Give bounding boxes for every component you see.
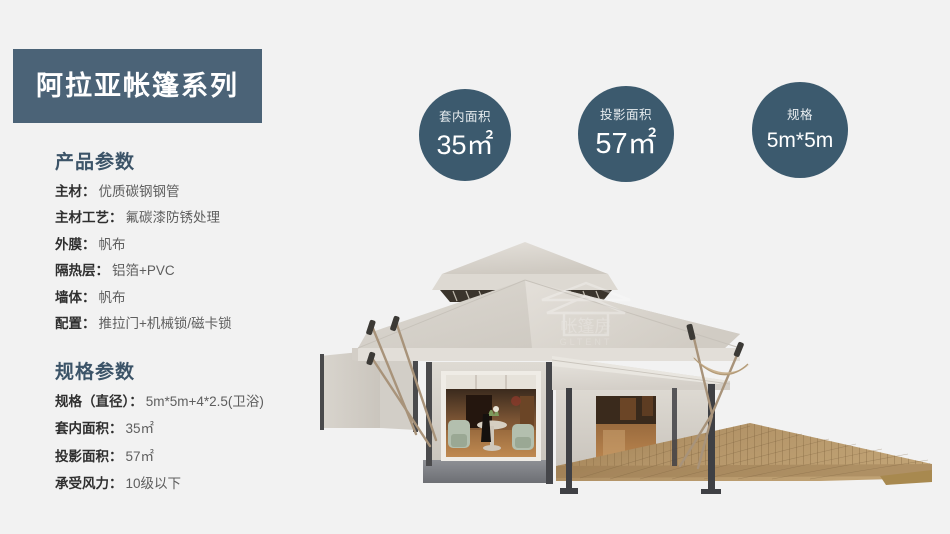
title-banner: 阿拉亚帐篷系列 [13, 49, 262, 123]
list-item: 隔热层：铝箔+PVC [55, 264, 355, 278]
product-parameters-panel: 产品参数 主材：优质碳钢钢管 主材工艺：氟碳漆防锈处理 外膜：帆布 隔热层：铝箔… [55, 152, 355, 344]
list-item: 外膜：帆布 [55, 238, 355, 252]
stat-badge-label: 规格 [787, 109, 813, 122]
main-roof [352, 280, 740, 361]
svg-text:GLTENT: GLTENT [560, 337, 613, 347]
param-value: 10级以下 [126, 476, 182, 491]
list-item: 配置：推拉门+机械锁/磁卡锁 [55, 317, 355, 331]
tent-illustration-svg: 帐篷房 GLTENT [320, 238, 950, 494]
watermark-text: 帐篷房 [561, 317, 612, 337]
list-item: 主材工艺：氟碳漆防锈处理 [55, 211, 355, 225]
param-key: 墙体： [55, 290, 96, 305]
param-key: 规格（直径）： [55, 394, 143, 409]
param-value: 35㎡ [126, 421, 155, 436]
param-key: 主材工艺： [55, 210, 123, 225]
param-key: 套内面积： [55, 421, 123, 436]
stat-badge-projected-area: 投影面积 57㎡ [578, 86, 674, 182]
param-key: 主材： [55, 184, 96, 199]
product-parameters-list: 主材：优质碳钢钢管 主材工艺：氟碳漆防锈处理 外膜：帆布 隔热层：铝箔+PVC … [55, 185, 355, 331]
page-title: 阿拉亚帐篷系列 [36, 73, 239, 100]
param-key: 承受风力： [55, 476, 123, 491]
param-value: 氟碳漆防锈处理 [126, 210, 221, 225]
list-item: 主材：优质碳钢钢管 [55, 185, 355, 199]
param-value: 铝箔+PVC [112, 263, 175, 278]
list-item: 墙体：帆布 [55, 291, 355, 305]
param-value: 推拉门+机械锁/磁卡锁 [99, 316, 232, 331]
stat-badge-label: 套内面积 [439, 111, 491, 124]
param-key: 配置： [55, 316, 96, 331]
stat-badge-size: 规格 5m*5m [752, 82, 848, 178]
front-room [423, 362, 553, 484]
stat-badge-label: 投影面积 [600, 109, 652, 122]
product-parameters-heading: 产品参数 [55, 152, 355, 175]
param-value: 5m*5m+4*2.5(卫浴) [146, 394, 264, 409]
stat-badge-value: 35㎡ [436, 132, 493, 159]
param-value: 帆布 [99, 290, 126, 305]
param-key: 外膜： [55, 237, 96, 252]
param-value: 优质碳钢钢管 [99, 184, 180, 199]
param-key: 投影面积： [55, 449, 123, 464]
stat-badge-value: 57㎡ [595, 130, 656, 159]
stat-badge-value: 5m*5m [767, 130, 834, 151]
param-value: 57㎡ [126, 449, 155, 464]
tent-illustration: 帐篷房 GLTENT [320, 238, 950, 494]
stat-badge-interior-area: 套内面积 35㎡ [419, 89, 511, 181]
poster-root: 阿拉亚帐篷系列 产品参数 主材：优质碳钢钢管 主材工艺：氟碳漆防锈处理 外膜：帆… [0, 0, 950, 534]
param-key: 隔热层： [55, 263, 109, 278]
param-value: 帆布 [99, 237, 126, 252]
